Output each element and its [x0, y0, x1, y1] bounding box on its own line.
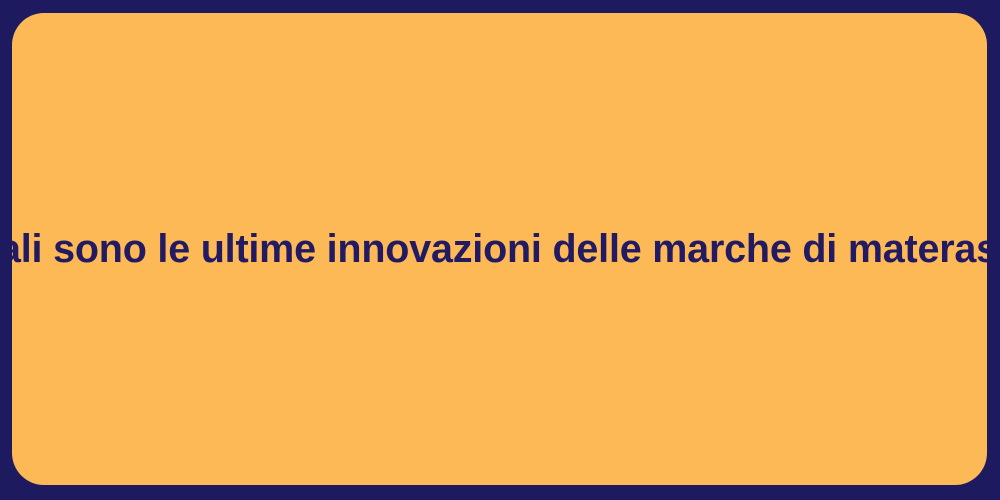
- content-card: Quali sono le ultime innovazioni delle m…: [12, 13, 987, 485]
- page-frame: Quali sono le ultime innovazioni delle m…: [0, 0, 1000, 500]
- page-title: Quali sono le ultime innovazioni delle m…: [12, 226, 987, 273]
